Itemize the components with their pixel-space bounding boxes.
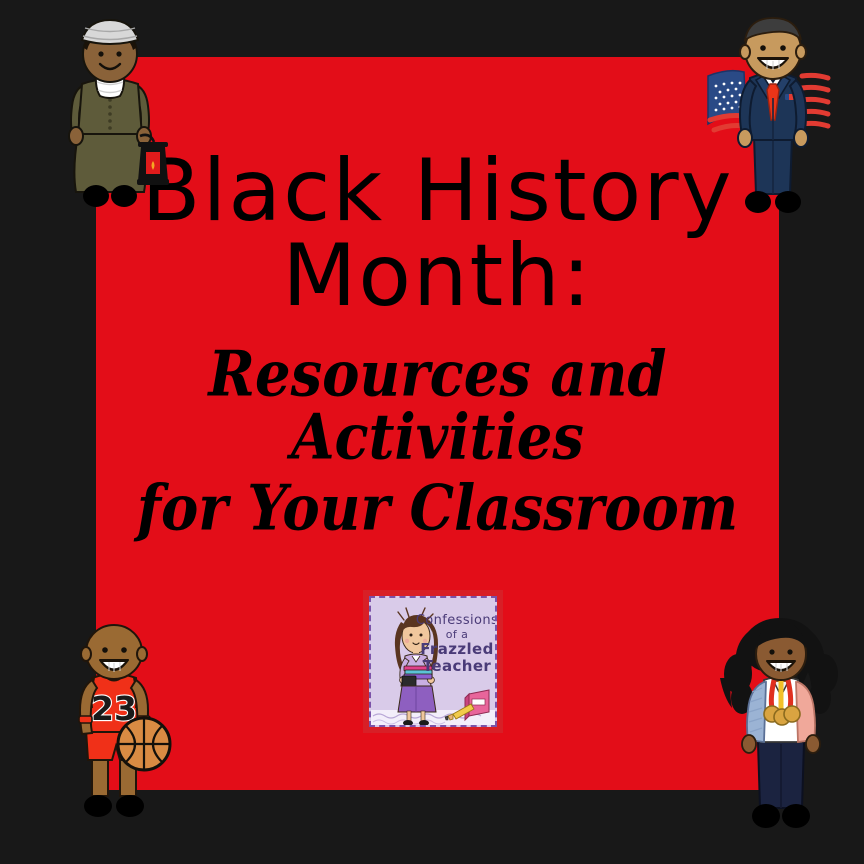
logo-line-2: of a [415, 629, 497, 641]
blog-logo-badge[interactable]: Confessions of a Frazzled Teacher [363, 590, 503, 733]
character-harriet-tubman [48, 14, 180, 226]
president-icon [706, 14, 840, 228]
poster-canvas: Black History Month: Resources and Activ… [0, 0, 864, 864]
lantern-icon [137, 135, 169, 185]
medalist-athlete-icon [716, 618, 848, 838]
character-medalist-athlete [716, 618, 848, 838]
logo-line-1: Confessions [415, 614, 497, 629]
basketball-player-icon: 23 [52, 620, 178, 836]
harriet-tubman-icon [48, 14, 180, 226]
character-basketball-player: 23 [52, 620, 178, 836]
logo-inner-frame: Confessions of a Frazzled Teacher [369, 596, 497, 727]
character-president [706, 14, 840, 228]
logo-line-4: Teacher [415, 658, 497, 675]
basketball-icon [118, 718, 170, 770]
logo-line-3: Frazzled [415, 641, 497, 658]
logo-wordmark: Confessions of a Frazzled Teacher [415, 614, 497, 674]
